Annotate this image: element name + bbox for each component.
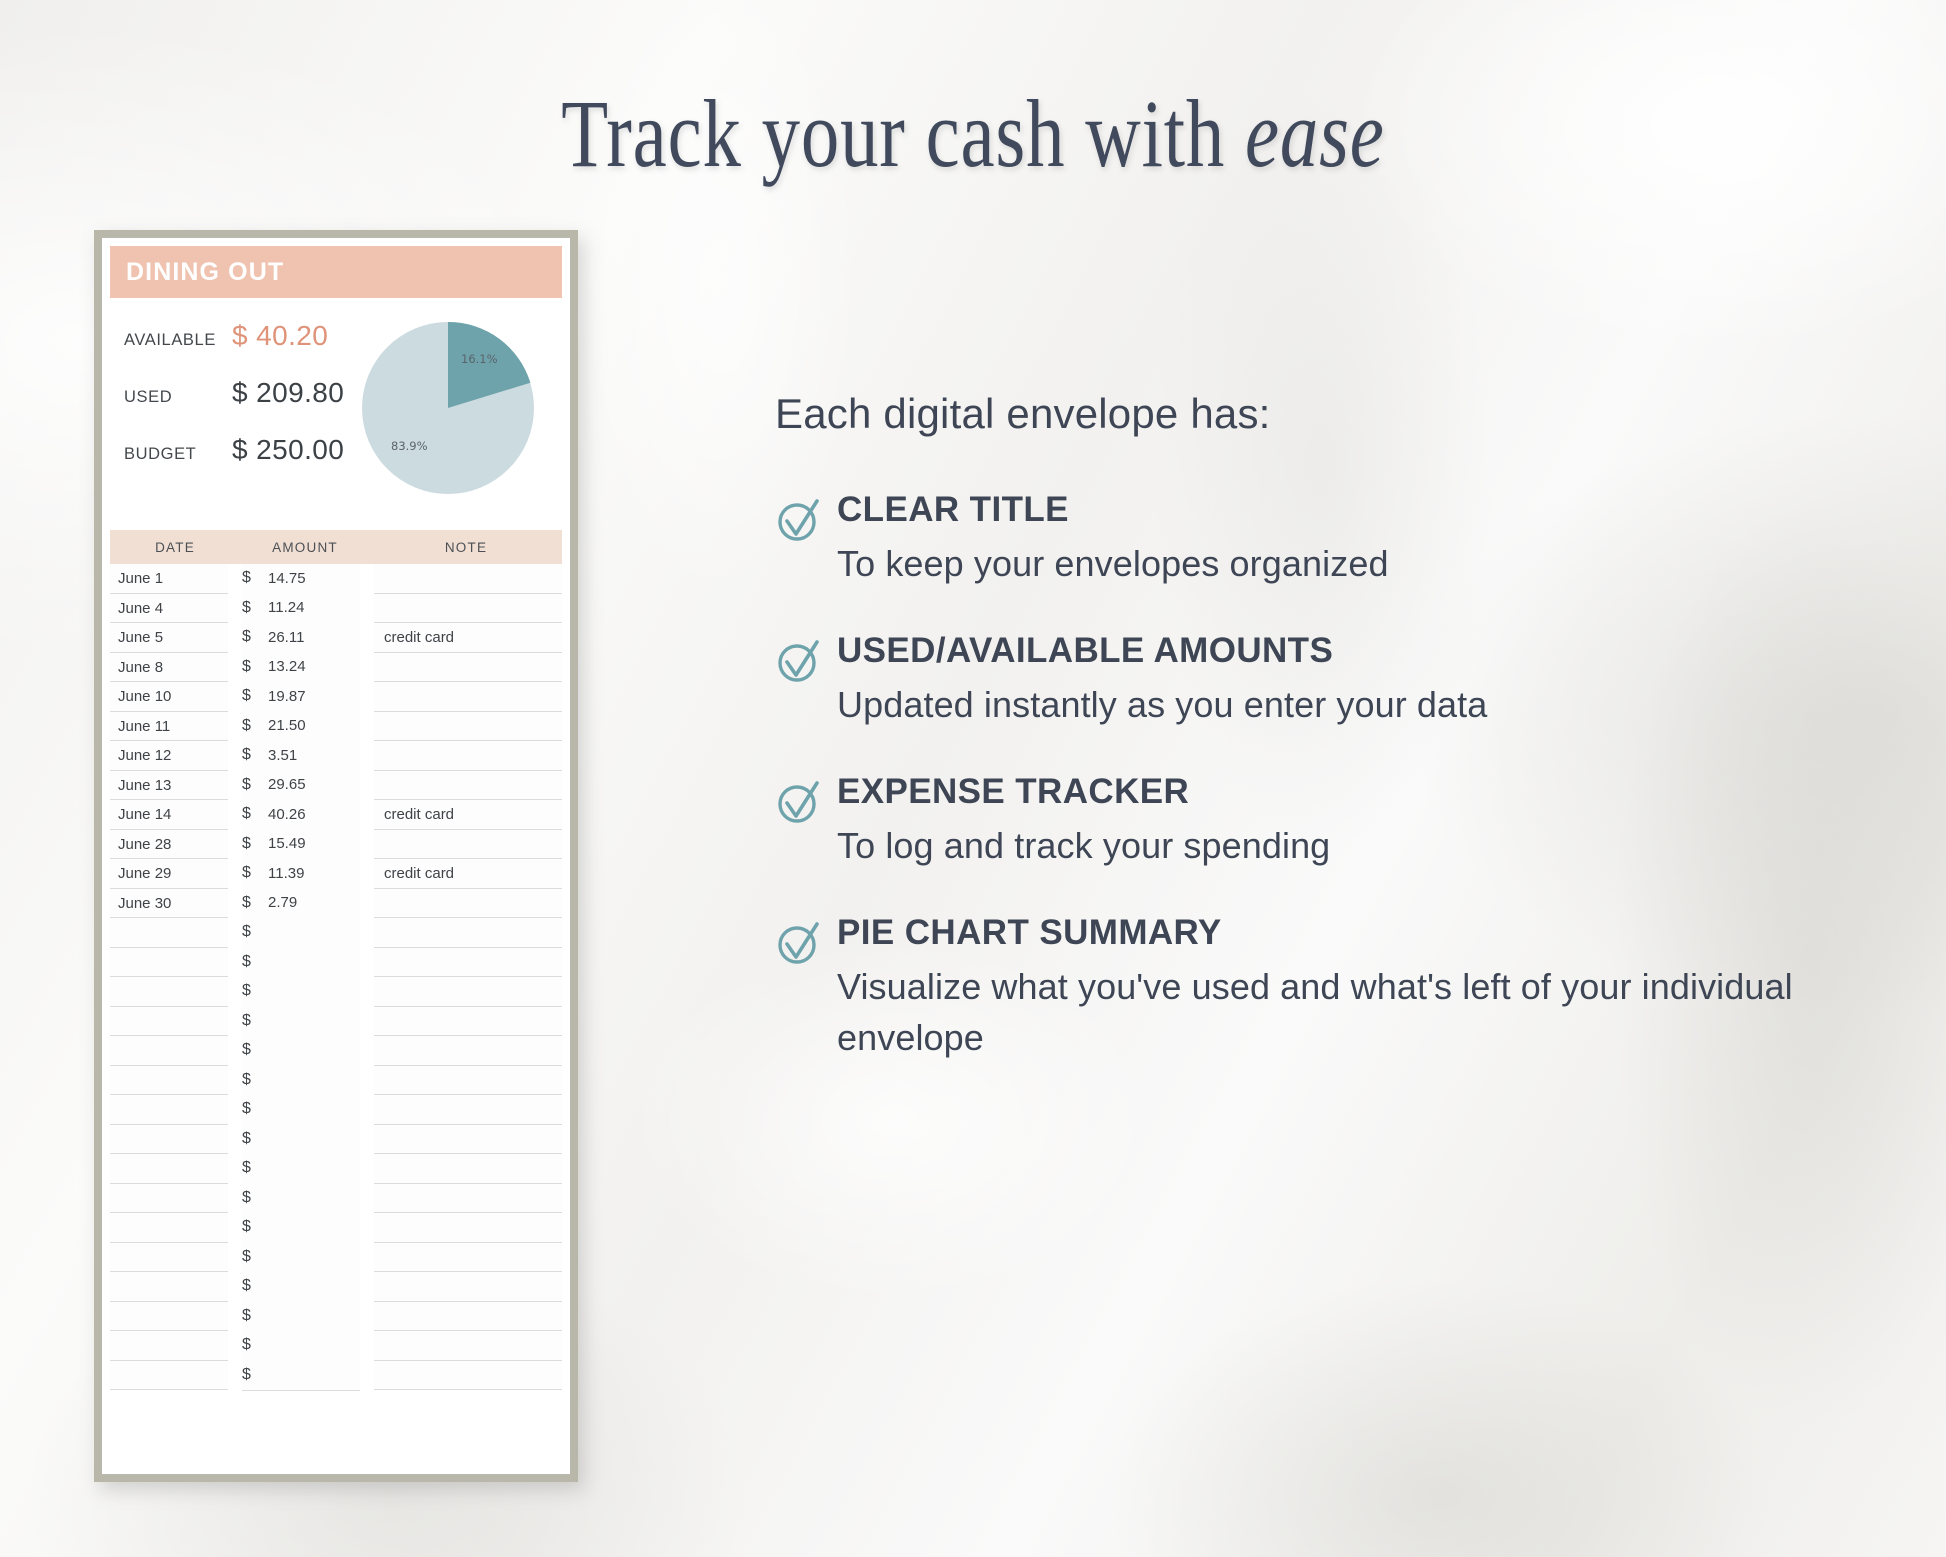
column-header-amount: AMOUNT [240,540,370,555]
cell-note[interactable]: credit card [374,800,562,830]
cell-spacer [228,771,242,801]
feature-title: USED/AVAILABLE AMOUNTS [837,631,1855,671]
cell-spacer [228,564,242,594]
cell-spacer-2 [360,830,374,860]
envelope-header: DINING OUT [110,246,562,298]
page-title-italic: ease [1245,80,1385,187]
cell-spacer [228,1213,242,1243]
cell-spacer [228,594,242,624]
table-row[interactable]: $ [110,1361,562,1391]
cell-spacer [228,1361,242,1391]
currency-symbol: $ [242,776,268,794]
currency-symbol: $ [242,1159,268,1177]
cell-spacer [228,741,242,771]
cell-spacer-2 [360,1154,374,1184]
cell-amount[interactable]: $ [242,977,360,1008]
cell-date[interactable] [110,1184,228,1214]
cell-spacer [228,977,242,1007]
cell-note[interactable]: credit card [374,623,562,653]
currency-symbol: $ [242,1041,268,1059]
feature-item: USED/AVAILABLE AMOUNTSUpdated instantly … [775,631,1855,730]
check-circle-icon [775,490,837,589]
cell-amount[interactable]: $ [242,1006,360,1037]
page-title-main: Track your cash with [561,80,1245,187]
amount-value: 26.11 [268,629,304,646]
cell-date[interactable] [110,1331,228,1361]
currency-symbol: $ [242,1307,268,1325]
cell-spacer-2 [360,1272,374,1302]
cell-spacer [228,948,242,978]
table-row[interactable]: June 13$29.65 [110,771,562,801]
cell-date[interactable] [110,1125,228,1155]
currency-symbol: $ [242,923,268,941]
table-row[interactable]: $ [110,1066,562,1096]
cell-spacer-2 [360,1361,374,1391]
check-circle-icon [775,631,837,730]
cell-spacer [228,889,242,919]
cell-amount[interactable]: $ [242,1301,360,1332]
used-label: USED [124,388,232,407]
amount-value: 14.75 [268,570,306,587]
currency-symbol: $ [242,746,268,764]
cell-amount[interactable]: $13.24 [242,652,360,683]
cell-spacer [228,653,242,683]
table-row[interactable]: June 12$3.51 [110,741,562,771]
amount-value: 19.87 [268,688,306,705]
cell-spacer [228,1125,242,1155]
cell-spacer-2 [360,1302,374,1332]
check-circle-icon [775,913,837,1063]
cell-date[interactable]: June 5 [110,623,228,653]
cell-note[interactable] [374,918,562,948]
cell-spacer-2 [360,1213,374,1243]
cell-date[interactable]: June 11 [110,712,228,742]
cell-spacer-2 [360,682,374,712]
cell-spacer-2 [360,771,374,801]
cell-date[interactable]: June 4 [110,594,228,624]
cell-amount[interactable]: $ [242,1360,360,1391]
table-row[interactable]: June 28$15.49 [110,830,562,860]
cell-spacer-2 [360,889,374,919]
table-row[interactable]: June 10$19.87 [110,682,562,712]
amount-value: 3.51 [268,747,297,764]
table-row[interactable]: June 5$26.11credit card [110,623,562,653]
cell-spacer-2 [360,1066,374,1096]
cell-date[interactable]: June 14 [110,800,228,830]
cell-note[interactable] [374,1272,562,1302]
cell-note[interactable] [374,712,562,742]
cell-amount[interactable]: $ [242,1242,360,1273]
table-row[interactable]: $ [110,1272,562,1302]
cell-amount[interactable]: $ [242,1154,360,1185]
cell-spacer-2 [360,1243,374,1273]
cell-note[interactable] [374,1184,562,1214]
cell-amount[interactable]: $21.50 [242,711,360,742]
cell-note[interactable] [374,653,562,683]
currency-symbol: $ [242,953,268,971]
amount-value: 29.65 [268,776,306,793]
table-row[interactable]: $ [110,918,562,948]
cell-date[interactable] [110,1095,228,1125]
cell-note[interactable] [374,1066,562,1096]
cell-amount[interactable]: $19.87 [242,682,360,713]
cell-note[interactable]: credit card [374,859,562,889]
cell-amount[interactable]: $ [242,1124,360,1155]
currency-symbol: $ [242,687,268,705]
table-row[interactable]: $ [110,1125,562,1155]
cell-date[interactable]: June 8 [110,653,228,683]
cell-note[interactable] [374,977,562,1007]
cell-amount[interactable]: $ [242,1036,360,1067]
table-row[interactable]: June 30$2.79 [110,889,562,919]
cell-amount[interactable]: $14.75 [242,564,360,595]
cell-spacer [228,859,242,889]
check-circle-icon [775,496,823,544]
cell-note[interactable] [374,1302,562,1332]
cell-spacer-2 [360,1125,374,1155]
expense-table-header: DATE AMOUNT NOTE [110,530,562,564]
cell-amount[interactable]: $ [242,1065,360,1096]
cell-note[interactable] [374,1007,562,1037]
cell-amount[interactable]: $ [242,1183,360,1214]
cell-date[interactable] [110,1007,228,1037]
cell-spacer-2 [360,712,374,742]
table-row[interactable]: $ [110,1331,562,1361]
cell-spacer [228,800,242,830]
cell-note[interactable] [374,1036,562,1066]
cell-note[interactable] [374,948,562,978]
cell-spacer-2 [360,1331,374,1361]
currency-symbol: $ [242,982,268,1000]
cell-note[interactable] [374,1213,562,1243]
available-label: AVAILABLE [124,331,232,350]
cell-date[interactable]: June 30 [110,889,228,919]
cell-spacer-2 [360,741,374,771]
cell-date[interactable] [110,1361,228,1391]
check-circle-icon [775,772,837,871]
features-list: CLEAR TITLETo keep your envelopes organi… [775,490,1855,1064]
cell-date[interactable]: June 29 [110,859,228,889]
cell-spacer [228,1066,242,1096]
feature-title: CLEAR TITLE [837,490,1855,530]
available-value: $ 40.20 [232,320,328,352]
table-row[interactable]: $ [110,1036,562,1066]
budget-pie-chart: 16.1% 83.9% [362,322,534,494]
currency-symbol: $ [242,1012,268,1030]
check-circle-icon [775,637,823,685]
features-lead: Each digital envelope has: [775,390,1855,438]
cell-date[interactable] [110,948,228,978]
cell-spacer [228,1095,242,1125]
table-row[interactable]: June 8$13.24 [110,653,562,683]
cell-amount[interactable]: $ [242,1095,360,1126]
table-row[interactable]: $ [110,1095,562,1125]
currency-symbol: $ [242,1071,268,1089]
cell-date[interactable]: June 10 [110,682,228,712]
cell-date[interactable] [110,1066,228,1096]
cell-spacer-2 [360,918,374,948]
cell-date[interactable]: June 12 [110,741,228,771]
budget-label: BUDGET [124,445,232,464]
currency-symbol: $ [242,1100,268,1118]
cell-date[interactable] [110,1036,228,1066]
cell-note[interactable] [374,594,562,624]
column-header-date: DATE [110,540,240,555]
feature-description: Updated instantly as you enter your data [837,679,1855,730]
features-panel: Each digital envelope has: CLEAR TITLETo… [775,390,1855,1106]
feature-item: EXPENSE TRACKERTo log and track your spe… [775,772,1855,871]
cell-date[interactable]: June 1 [110,564,228,594]
cell-date[interactable]: June 13 [110,771,228,801]
cell-spacer [228,712,242,742]
cell-spacer-2 [360,653,374,683]
cell-note[interactable] [374,1095,562,1125]
feature-item: PIE CHART SUMMARYVisualize what you've u… [775,913,1855,1063]
summary-row-available: AVAILABLE $ 40.20 [124,320,362,377]
feature-description: Visualize what you've used and what's le… [837,961,1855,1063]
cell-note[interactable] [374,1243,562,1273]
currency-symbol: $ [242,1130,268,1148]
used-value: $ 209.80 [232,377,344,409]
check-circle-icon [775,919,823,967]
cell-date[interactable] [110,977,228,1007]
cell-note[interactable] [374,1125,562,1155]
cell-spacer [228,1243,242,1273]
currency-symbol: $ [242,658,268,676]
summary-row-used: USED $ 209.80 [124,377,362,434]
cell-amount[interactable]: $29.65 [242,770,360,801]
currency-symbol: $ [242,805,268,823]
cell-spacer [228,1272,242,1302]
cell-spacer [228,1331,242,1361]
cell-date[interactable] [110,1302,228,1332]
currency-symbol: $ [242,1336,268,1354]
cell-spacer [228,1184,242,1214]
currency-symbol: $ [242,628,268,646]
cell-amount[interactable]: $11.24 [242,593,360,624]
cell-date[interactable] [110,1272,228,1302]
currency-symbol: $ [242,835,268,853]
amount-value: 2.79 [268,894,297,911]
cell-spacer-2 [360,1007,374,1037]
budget-value: $ 250.00 [232,434,344,466]
envelope-card-frame: DINING OUT AVAILABLE $ 40.20 USED $ 209.… [94,230,578,1482]
cell-note[interactable] [374,564,562,594]
cell-note[interactable] [374,1154,562,1184]
table-row[interactable]: $ [110,1184,562,1214]
cell-amount[interactable]: $15.49 [242,829,360,860]
currency-symbol: $ [242,894,268,912]
pie-label-available: 83.9% [391,439,428,453]
cell-spacer-2 [360,1095,374,1125]
table-row[interactable]: June 14$40.26credit card [110,800,562,830]
expense-table: DATE AMOUNT NOTE June 1$14.75June 4$11.2… [110,530,562,1474]
cell-spacer [228,623,242,653]
cell-amount[interactable]: $ [242,1331,360,1362]
cell-spacer-2 [360,1184,374,1214]
table-row[interactable]: $ [110,948,562,978]
column-header-note: NOTE [370,540,562,555]
page-title: Track your cash with ease [195,78,1752,189]
amount-value: 40.26 [268,806,306,823]
cell-amount[interactable]: $ [242,947,360,978]
table-row[interactable]: $ [110,1007,562,1037]
cell-note[interactable] [374,682,562,712]
table-row[interactable]: June 29$11.39credit card [110,859,562,889]
cell-spacer [228,1007,242,1037]
summary-values: AVAILABLE $ 40.20 USED $ 209.80 BUDGET $… [110,320,362,490]
envelope-card: DINING OUT AVAILABLE $ 40.20 USED $ 209.… [102,238,570,1474]
cell-amount[interactable]: $40.26 [242,800,360,831]
feature-body: EXPENSE TRACKERTo log and track your spe… [837,772,1855,871]
currency-symbol: $ [242,1218,268,1236]
table-row[interactable]: $ [110,1302,562,1332]
currency-symbol: $ [242,1248,268,1266]
amount-value: 21.50 [268,717,306,734]
cell-note[interactable] [374,889,562,919]
cell-date[interactable] [110,1243,228,1273]
cell-spacer [228,1154,242,1184]
currency-symbol: $ [242,1366,268,1384]
cell-note[interactable] [374,741,562,771]
table-row[interactable]: $ [110,1213,562,1243]
cell-note[interactable] [374,830,562,860]
feature-title: PIE CHART SUMMARY [837,913,1855,953]
cell-spacer-2 [360,859,374,889]
cell-spacer-2 [360,977,374,1007]
table-row[interactable]: $ [110,1154,562,1184]
summary-row-budget: BUDGET $ 250.00 [124,434,362,491]
feature-description: To keep your envelopes organized [837,538,1855,589]
feature-body: USED/AVAILABLE AMOUNTSUpdated instantly … [837,631,1855,730]
table-row[interactable]: $ [110,1243,562,1273]
pie-label-used: 16.1% [461,352,498,366]
feature-body: CLEAR TITLETo keep your envelopes organi… [837,490,1855,589]
cell-spacer-2 [360,564,374,594]
cell-date[interactable] [110,1213,228,1243]
expense-table-body: June 1$14.75June 4$11.24June 5$26.11cred… [110,564,562,1390]
cell-spacer [228,1302,242,1332]
cell-spacer-2 [360,1036,374,1066]
currency-symbol: $ [242,1277,268,1295]
currency-symbol: $ [242,1189,268,1207]
cell-spacer [228,1036,242,1066]
currency-symbol: $ [242,717,268,735]
cell-amount[interactable]: $ [242,1272,360,1303]
cell-date[interactable] [110,918,228,948]
cell-spacer-2 [360,594,374,624]
envelope-summary: AVAILABLE $ 40.20 USED $ 209.80 BUDGET $… [110,298,562,506]
cell-amount[interactable]: $11.39 [242,859,360,890]
amount-value: 13.24 [268,658,306,675]
cell-spacer [228,918,242,948]
cell-spacer [228,830,242,860]
cell-note[interactable] [374,771,562,801]
cell-amount[interactable]: $2.79 [242,888,360,919]
currency-symbol: $ [242,599,268,617]
table-row[interactable]: $ [110,977,562,1007]
cell-amount[interactable]: $ [242,1213,360,1244]
amount-value: 11.24 [268,599,304,616]
cell-spacer-2 [360,948,374,978]
check-circle-icon [775,778,823,826]
amount-value: 15.49 [268,835,306,852]
cell-date[interactable] [110,1154,228,1184]
feature-title: EXPENSE TRACKER [837,772,1855,812]
table-row[interactable]: June 4$11.24 [110,594,562,624]
cell-note[interactable] [374,1331,562,1361]
cell-amount[interactable]: $ [242,918,360,949]
cell-amount[interactable]: $3.51 [242,741,360,772]
cell-note[interactable] [374,1361,562,1391]
currency-symbol: $ [242,864,268,882]
amount-value: 11.39 [268,865,304,882]
cell-amount[interactable]: $26.11 [242,623,360,654]
currency-symbol: $ [242,569,268,587]
cell-spacer-2 [360,800,374,830]
summary-table-divider [110,506,562,530]
envelope-title: DINING OUT [126,258,284,287]
cell-spacer-2 [360,623,374,653]
feature-item: CLEAR TITLETo keep your envelopes organi… [775,490,1855,589]
cell-spacer [228,682,242,712]
cell-date[interactable]: June 28 [110,830,228,860]
pie-svg [362,322,534,494]
feature-body: PIE CHART SUMMARYVisualize what you've u… [837,913,1855,1063]
table-row[interactable]: June 11$21.50 [110,712,562,742]
table-row[interactable]: June 1$14.75 [110,564,562,594]
feature-description: To log and track your spending [837,820,1855,871]
